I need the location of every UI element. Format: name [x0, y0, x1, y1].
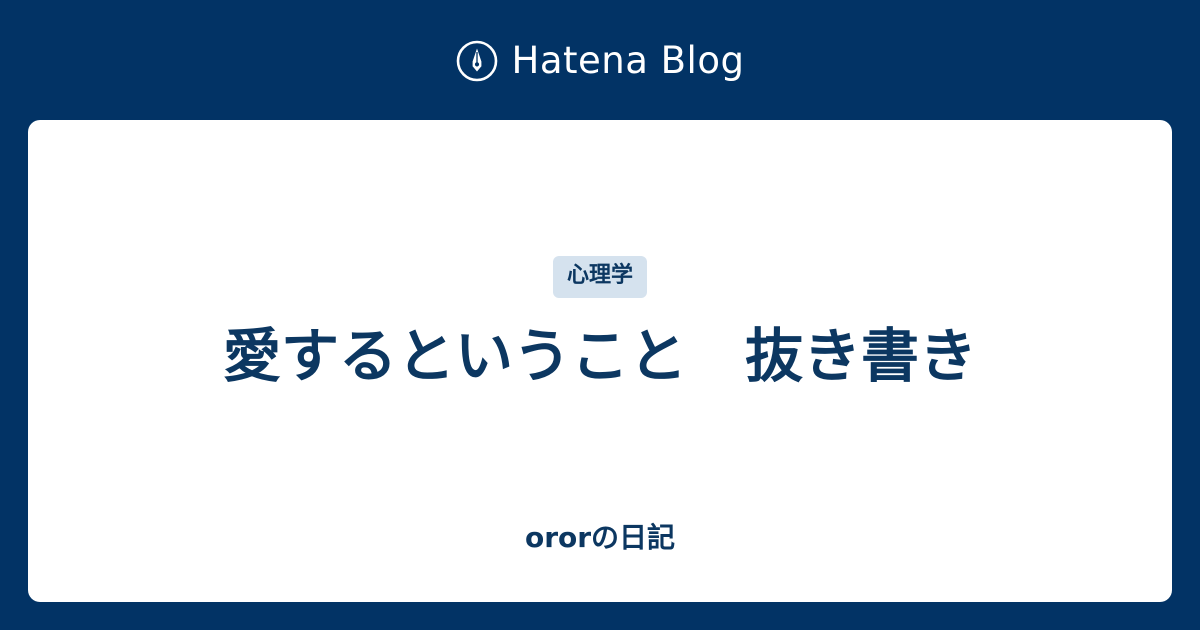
category-badge[interactable]: 心理学: [553, 256, 647, 298]
entry-card-content: 心理学 愛するということ 抜き書き ororの日記: [28, 120, 1172, 552]
entry-title: 愛するということ 抜き書き: [223, 320, 977, 393]
hatena-pen-nib-icon: [456, 40, 498, 82]
hatena-blog-brand-header: Hatena Blog: [0, 0, 1200, 120]
entry-card: 心理学 愛するということ 抜き書き ororの日記: [28, 120, 1172, 602]
blog-name[interactable]: ororの日記: [525, 524, 675, 552]
hatena-blog-service-name: Hatena Blog: [512, 42, 745, 79]
